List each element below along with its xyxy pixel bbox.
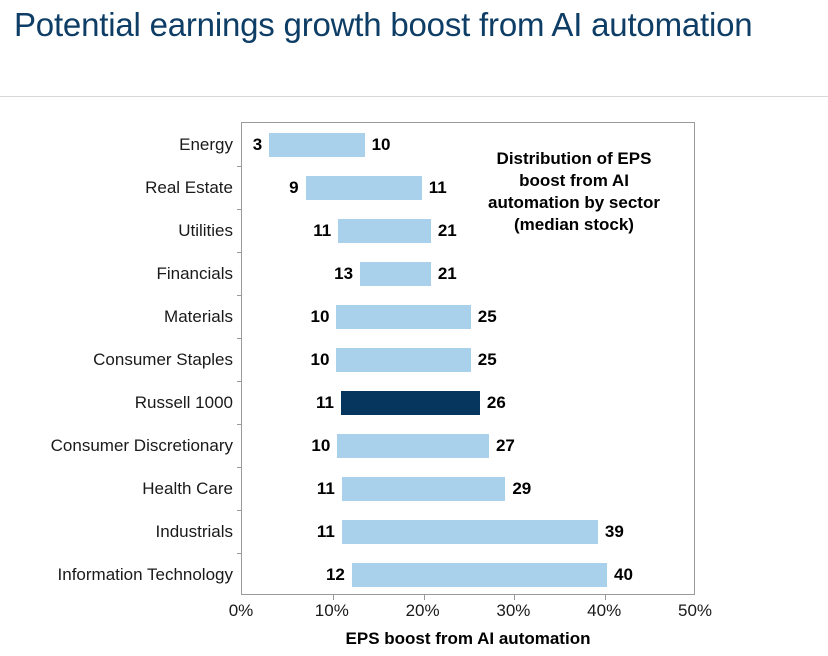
title-divider <box>0 96 828 97</box>
bar-end-value: 27 <box>496 434 515 458</box>
category-label: Materials <box>164 295 233 338</box>
bar-end-value: 25 <box>478 305 497 329</box>
category-label: Consumer Staples <box>93 338 233 381</box>
category-label: Information Technology <box>58 553 233 596</box>
bar-row: Information Technology1240 <box>242 553 694 596</box>
x-axis-title: EPS boost from AI automation <box>241 629 695 649</box>
category-label: Health Care <box>142 467 233 510</box>
bar-row: Russell 10001126 <box>242 381 694 424</box>
bar[interactable] <box>338 219 431 243</box>
category-label: Industrials <box>156 510 233 553</box>
bar-row: Financials1321 <box>242 252 694 295</box>
category-label: Russell 1000 <box>135 381 233 424</box>
y-axis-tick <box>237 381 242 382</box>
y-axis-tick <box>237 553 242 554</box>
category-label: Energy <box>179 123 233 166</box>
bar-start-value: 3 <box>253 133 262 157</box>
bar-end-value: 29 <box>512 477 531 501</box>
annotation-line: Distribution of EPS <box>466 148 682 170</box>
bar-start-value: 9 <box>289 176 298 200</box>
annotation-line: boost from AI <box>466 170 682 192</box>
bar[interactable] <box>336 348 470 372</box>
x-axis-tick-label: 50% <box>678 601 712 621</box>
category-label: Consumer Discretionary <box>51 424 233 467</box>
y-axis-tick <box>237 467 242 468</box>
bar-end-value: 11 <box>429 176 447 200</box>
bar[interactable] <box>336 305 470 329</box>
y-axis-tick <box>237 510 242 511</box>
x-axis-tick-label: 20% <box>406 601 440 621</box>
bar-start-value: 11 <box>313 219 331 243</box>
bar-row: Consumer Discretionary1027 <box>242 424 694 467</box>
y-axis-tick <box>237 209 242 210</box>
bar-end-value: 40 <box>614 563 633 587</box>
y-axis-tick <box>237 252 242 253</box>
bar[interactable] <box>342 520 598 544</box>
bar-start-value: 11 <box>316 391 334 415</box>
annotation-line: automation by sector <box>466 192 682 214</box>
bar-start-value: 12 <box>326 563 345 587</box>
bar-start-value: 10 <box>311 305 330 329</box>
bar-highlight[interactable] <box>341 391 480 415</box>
bar-row: Health Care1129 <box>242 467 694 510</box>
bar[interactable] <box>269 133 364 157</box>
x-axis-tick <box>514 594 515 600</box>
category-label: Real Estate <box>145 166 233 209</box>
bar[interactable] <box>342 477 505 501</box>
bar-end-value: 21 <box>438 219 457 243</box>
x-axis-tick <box>333 594 334 600</box>
bar[interactable] <box>352 563 607 587</box>
annotation-line: (median stock) <box>466 214 682 236</box>
x-axis-tick-label: 0% <box>229 601 254 621</box>
bar-row: Consumer Staples1025 <box>242 338 694 381</box>
bar-end-value: 25 <box>478 348 497 372</box>
category-label: Financials <box>156 252 233 295</box>
chart-container: Energy310Real Estate911Utilities1121Fina… <box>0 104 828 656</box>
chart-annotation: Distribution of EPSboost from AIautomati… <box>466 148 682 236</box>
bar-start-value: 13 <box>334 262 353 286</box>
bar-row: Industrials1139 <box>242 510 694 553</box>
bar-start-value: 11 <box>317 477 335 501</box>
category-label: Utilities <box>178 209 233 252</box>
y-axis-tick <box>237 295 242 296</box>
bar-start-value: 10 <box>311 434 330 458</box>
x-axis-tick-label: 30% <box>496 601 530 621</box>
bar-end-value: 26 <box>487 391 506 415</box>
bar-end-value: 10 <box>372 133 391 157</box>
page-title: Potential earnings growth boost from AI … <box>14 2 824 48</box>
bar-start-value: 11 <box>317 520 335 544</box>
y-axis-tick <box>237 424 242 425</box>
x-axis-tick-label: 10% <box>315 601 349 621</box>
bar[interactable] <box>360 262 431 286</box>
x-axis-tick <box>424 594 425 600</box>
bar-end-value: 21 <box>438 262 457 286</box>
bar-row: Materials1025 <box>242 295 694 338</box>
y-axis-tick <box>237 338 242 339</box>
x-axis-tick-label: 40% <box>587 601 621 621</box>
y-axis-tick <box>237 166 242 167</box>
bar-start-value: 10 <box>311 348 330 372</box>
bar[interactable] <box>337 434 489 458</box>
bar[interactable] <box>306 176 422 200</box>
x-axis-tick <box>605 594 606 600</box>
bar-end-value: 39 <box>605 520 624 544</box>
